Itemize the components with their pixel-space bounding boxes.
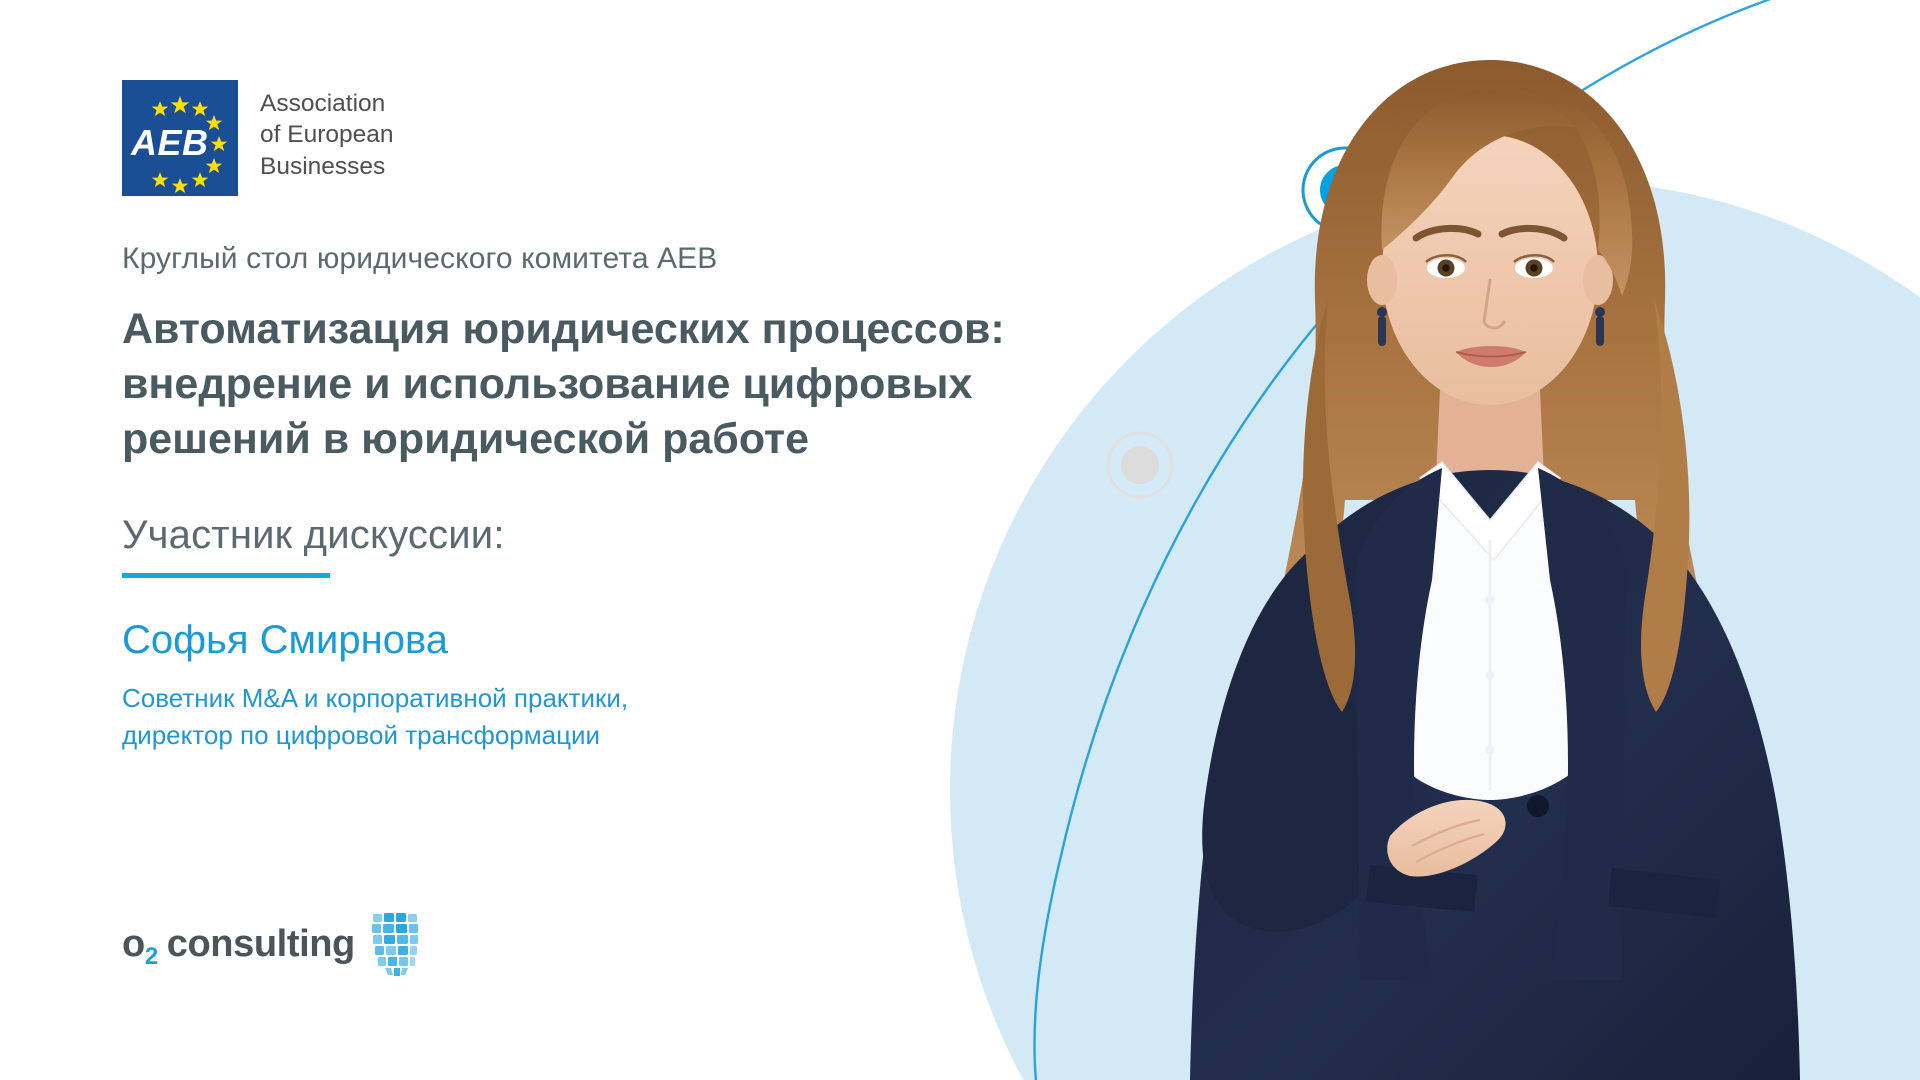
speaker-name: Софья Смирнова (122, 616, 1042, 664)
accent-rule (122, 573, 330, 578)
aeb-logo-letters: AEB (131, 125, 209, 161)
slide-title: Автоматизация юридических процессов: вне… (122, 302, 1022, 467)
role-label: Участник дискуссии: (122, 511, 1042, 559)
earring-drop-right (1596, 316, 1604, 346)
shirt-button (1486, 671, 1495, 680)
o2-consulting-wordmark: o2consulting (122, 925, 355, 963)
o2-subscript-two: 2 (145, 945, 158, 969)
jacket-button (1527, 795, 1549, 817)
o2-letter-o: o (122, 925, 145, 963)
o2-word-consulting: consulting (167, 925, 355, 963)
o2-consulting-logo: o2consulting (122, 912, 425, 976)
aeb-logo: AEB Association of European Businesses (122, 80, 394, 196)
shirt-button (1486, 596, 1495, 605)
earring-right (1595, 307, 1605, 317)
event-eyebrow: Круглый стол юридического комитета AEB (122, 240, 1042, 278)
earring-left (1377, 307, 1387, 317)
speaker-title: Советник M&A и корпоративной практики, д… (122, 680, 1042, 755)
aeb-logo-name: Association of European Businesses (260, 80, 394, 182)
ear-left (1367, 255, 1397, 305)
shirt-button (1486, 746, 1495, 755)
pupil-right (1530, 264, 1538, 272)
earring-drop-left (1378, 316, 1386, 346)
aeb-logo-mark: AEB (122, 80, 238, 196)
speaker-portrait (1060, 0, 1920, 1080)
o2-shield-icon (369, 912, 425, 976)
pupil-left (1442, 264, 1450, 272)
slide-content: Круглый стол юридического комитета AEB А… (122, 240, 1042, 755)
presentation-slide: AEB Association of European Businesses К… (0, 0, 1920, 1080)
